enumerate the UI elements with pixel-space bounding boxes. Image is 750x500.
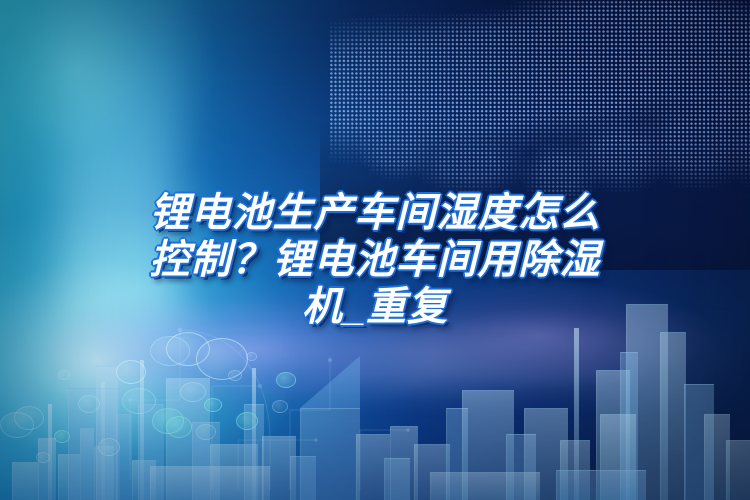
headline-line-2: 控制？锂电池车间用除湿 <box>0 237 750 284</box>
promo-banner: 锂电池生产车间湿度怎么 控制？锂电池车间用除湿 机_重复 <box>0 0 750 500</box>
building <box>556 470 646 500</box>
building <box>12 462 38 500</box>
building-spire <box>48 404 52 500</box>
headline-line-3: 机_重复 <box>0 284 750 331</box>
building <box>660 332 686 500</box>
headline-block: 锂电池生产车间湿度怎么 控制？锂电池车间用除湿 机_重复 <box>0 190 750 331</box>
headline-line-1: 锂电池生产车间湿度怎么 <box>0 190 750 237</box>
building <box>96 366 118 500</box>
building <box>38 438 56 500</box>
building <box>726 440 750 500</box>
